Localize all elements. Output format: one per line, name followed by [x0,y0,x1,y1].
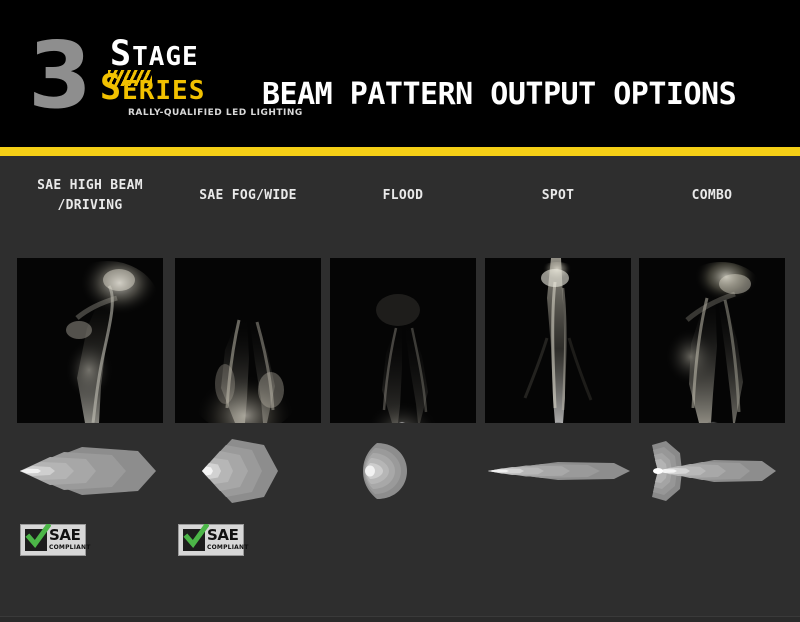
column-label-sae-high-beam-driving: SAE HIGH BEAM /DRIVING [14,176,166,216]
sae-badge-title: SAE [207,528,238,543]
beam-diagram-flood [327,436,479,506]
column-label-line-1: SAE FOG/WIDE [172,186,324,206]
column-label-line-1: SPOT [482,186,634,206]
beam-photo-spot [485,258,631,423]
logo-series-initial: S [100,68,122,108]
sae-compliant-badge-column-1: SAE COMPLIANT [20,524,86,556]
logo-numeral: 3 [28,30,88,122]
column-sae-fog-wide: SAE FOG/WIDE [172,156,324,616]
sae-compliant-badge-column-2: SAE COMPLIANT [178,524,244,556]
check-icon [25,524,51,550]
logo-stage-rest: TAGE [132,42,199,72]
check-icon [183,524,209,550]
beam-photo-flood [330,258,476,423]
column-label-flood: FLOOD [327,186,479,206]
beam-photo-sae-fog-wide [175,258,321,423]
column-label-combo: COMBO [636,186,788,206]
column-combo: COMBO [636,156,788,616]
column-label-sae-fog-wide: SAE FOG/WIDE [172,186,324,206]
logo-series-rest: ERIES [122,76,205,106]
beam-diagram-combo [636,436,788,506]
beam-diagram-sae-fog-wide [172,436,324,506]
yellow-accent-divider [0,147,800,156]
column-label-line-1: COMBO [636,186,788,206]
beam-pattern-grid: SAE HIGH BEAM /DRIVING [0,156,800,616]
column-label-line-2: /DRIVING [14,196,166,216]
page-title: BEAM PATTERN OUTPUT OPTIONS [262,78,782,112]
beam-pattern-infographic: 3 STAGE SERIES RALLY-QUALIFIED LED LIGHT… [0,0,800,622]
sae-badge-subtitle: COMPLIANT [49,544,91,551]
logo-word-stage: STAGE [110,40,199,71]
column-sae-high-beam-driving: SAE HIGH BEAM /DRIVING [14,156,166,616]
beam-photo-combo [639,258,785,423]
footer-divider [0,616,800,622]
logo-word-series: SERIES [100,74,205,105]
brand-logo: 3 STAGE SERIES RALLY-QUALIFIED LED LIGHT… [28,28,243,128]
column-spot: SPOT [482,156,634,616]
sae-check-box [25,529,47,551]
sae-check-box [183,529,205,551]
beam-diagram-spot [482,436,634,506]
column-label-line-1: SAE HIGH BEAM [14,176,166,196]
column-label-spot: SPOT [482,186,634,206]
beam-diagram-sae-high-beam-driving [14,436,166,506]
header-bar: 3 STAGE SERIES RALLY-QUALIFIED LED LIGHT… [0,0,800,147]
sae-badge-subtitle: COMPLIANT [207,544,249,551]
column-flood: FLOOD [327,156,479,616]
column-label-line-1: FLOOD [327,186,479,206]
sae-badge-title: SAE [49,528,80,543]
beam-photo-sae-high-beam-driving [17,258,163,423]
